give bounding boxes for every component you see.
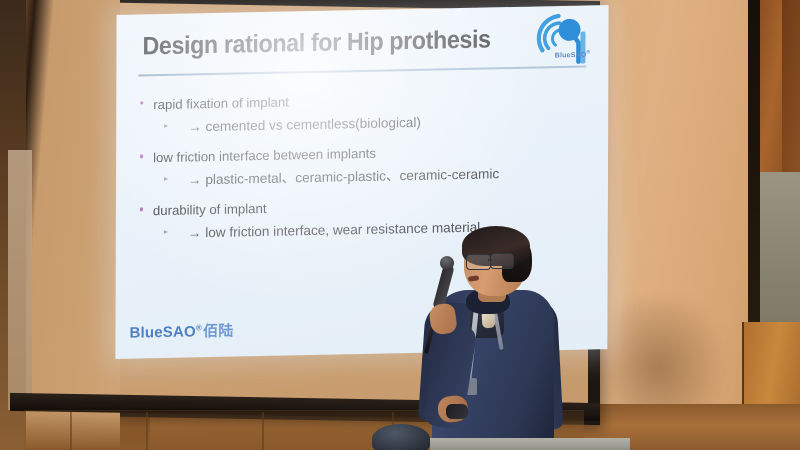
sub-bullet-text: → cemented vs cementless(biological) — [188, 115, 421, 135]
glasses-left-lens-icon — [466, 254, 491, 270]
slide-title: Design rational for Hip prothesis — [142, 25, 490, 61]
bullet-dot-icon — [140, 101, 143, 104]
bullet-item: durability of implant — [136, 194, 586, 221]
bluesao-logo-caption: BlueSAO® — [555, 49, 591, 59]
bullet-dot-icon — [140, 155, 143, 158]
sub-bullet-text: → plastic-metal、ceramic-plastic、ceramic-… — [188, 166, 499, 187]
bullet-dot-icon — [140, 208, 143, 211]
logo-caption-registered: ® — [587, 49, 591, 55]
slide-footer-logo: BlueSAO®佰陆 — [129, 320, 233, 343]
glasses-right-lens-icon — [490, 253, 514, 269]
foreground-audience-head — [372, 424, 430, 450]
title-divider-rule — [138, 65, 586, 76]
foreground-desk-edge — [430, 438, 630, 450]
logo-caption-text: BlueSAO — [555, 52, 587, 60]
bullet-item: rapid fixation of implant — [136, 87, 586, 114]
sub-bullet-item: → plastic-metal、ceramic-plastic、ceramic-… — [136, 163, 586, 190]
triangle-marker-icon — [164, 177, 168, 181]
bullet-text: durability of implant — [153, 201, 267, 218]
presenter-figure — [408, 228, 598, 450]
bullet-text: rapid fixation of implant — [153, 94, 289, 112]
left-wall-panel — [8, 150, 32, 410]
glasses-bridge-icon — [488, 259, 492, 261]
bullet-item: low friction interface between implants — [136, 141, 586, 168]
wood-seam — [146, 412, 148, 450]
footer-brand-text: BlueSAO — [129, 323, 195, 341]
cabinet-glass-panel — [760, 172, 800, 322]
bluesao-logo-icon — [528, 9, 594, 68]
presentation-photo-scene: Design rational for Hip prothesis BlueSA… — [0, 0, 800, 450]
held-object — [446, 404, 468, 419]
footer-registered-mark: ® — [196, 323, 202, 332]
bullet-text: low friction interface between implants — [153, 146, 376, 165]
wood-cabinet-upper-edge — [782, 0, 800, 175]
triangle-marker-icon — [164, 230, 168, 234]
triangle-marker-icon — [164, 124, 168, 128]
wood-seam — [70, 412, 72, 450]
footer-chinese-name: 佰陆 — [203, 323, 233, 341]
wood-seam — [262, 412, 264, 450]
sub-bullet-item: → cemented vs cementless(biological) — [136, 110, 586, 137]
